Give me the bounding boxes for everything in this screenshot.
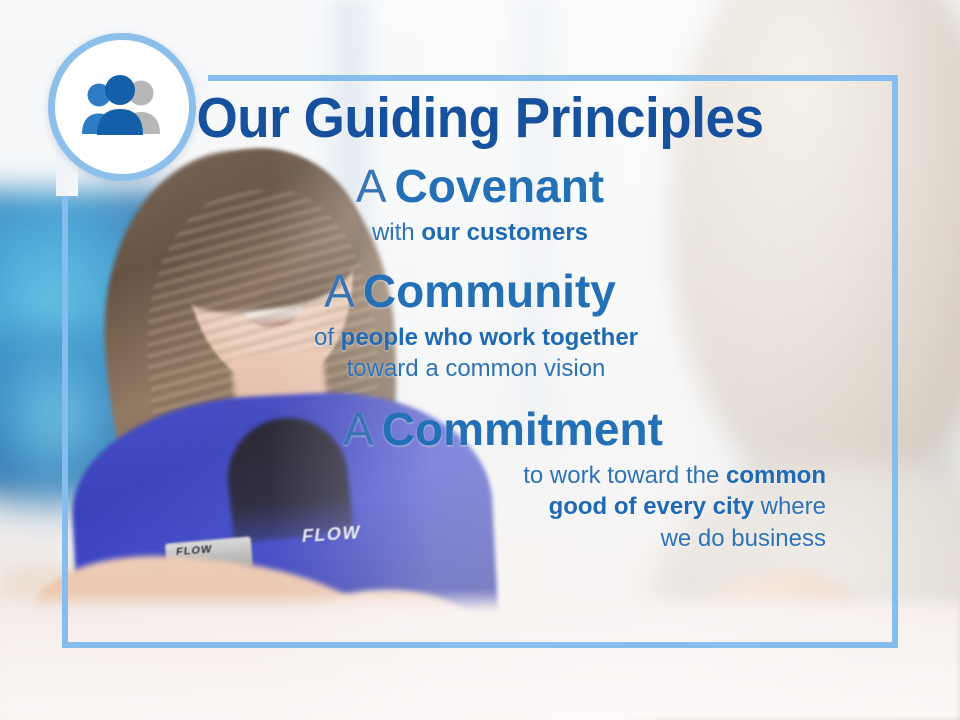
principle-community-sub-line2: toward a common vision: [347, 355, 606, 382]
principle-covenant-sub-bold: our customers: [421, 219, 588, 246]
principle-covenant-subtitle: with our customers: [104, 217, 856, 248]
principle-commitment-sub-bold-2: good of every city: [549, 493, 754, 520]
principle-commitment-sub-where: where: [754, 493, 826, 520]
principle-community-sub-bold: people who work together: [341, 324, 638, 351]
principle-covenant-article: A: [356, 160, 387, 212]
principle-community-sub-regular: of: [314, 324, 341, 351]
principle-community-subtitle: of people who work together toward a com…: [104, 322, 856, 384]
principle-community-heading: ACommunity: [104, 268, 856, 316]
principle-commitment-sub-line3: we do business: [661, 525, 826, 552]
principle-covenant-heading: ACovenant: [104, 163, 856, 211]
principle-commitment-subtitle: to work toward the common good of every …: [104, 460, 856, 554]
principle-covenant: ACovenant with our customers: [104, 163, 856, 248]
principle-community: ACommunity of people who work together t…: [104, 268, 856, 384]
principle-covenant-sub-regular: with: [372, 219, 421, 246]
principle-community-word: Community: [363, 265, 616, 317]
principle-community-article: A: [324, 265, 355, 317]
poster-canvas: FLOW FLOW Our Guiding: [0, 0, 960, 720]
page-title: Our Guiding Principles: [130, 89, 829, 147]
principle-commitment: ACommitment to work toward the common go…: [104, 406, 856, 553]
principle-commitment-article: A: [343, 403, 374, 455]
principle-commitment-word: Commitment: [382, 403, 663, 455]
principle-commitment-sub-regular: to work toward the: [523, 462, 726, 489]
principle-commitment-sub-bold-1: common: [726, 462, 826, 489]
principle-covenant-word: Covenant: [395, 160, 605, 212]
poster-content: Our Guiding Principles ACovenant with ou…: [62, 75, 898, 648]
principle-commitment-heading: ACommitment: [104, 406, 856, 454]
